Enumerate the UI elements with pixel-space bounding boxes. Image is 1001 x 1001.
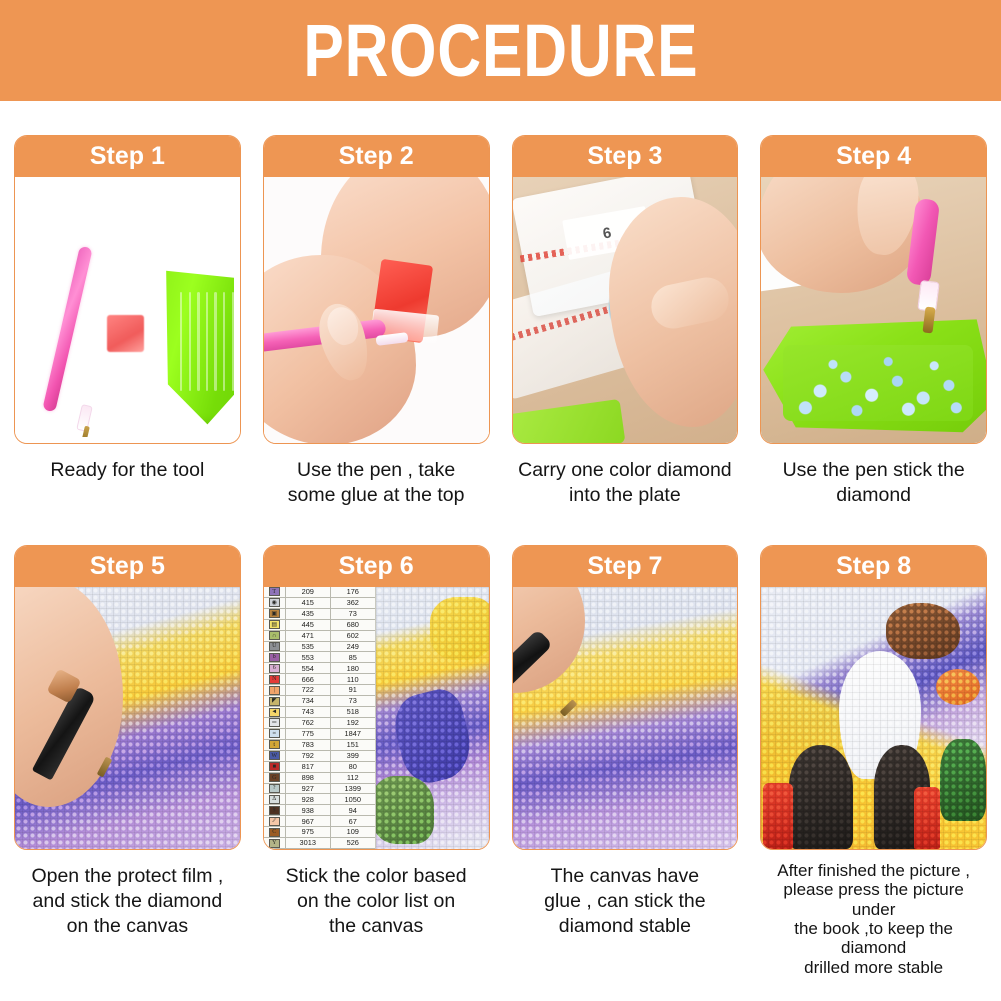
color-chart-count-cell: 192 bbox=[331, 718, 375, 728]
tray-rib bbox=[214, 292, 217, 391]
color-chart-row: N666110 bbox=[264, 674, 375, 685]
caption-line: glue , can stick the bbox=[514, 889, 737, 914]
caption-line: and stick the diamond bbox=[16, 889, 239, 914]
color-swatch: ▣ bbox=[269, 609, 280, 618]
step-caption-5: Open the protect film , and stick the di… bbox=[14, 864, 241, 939]
color-chart-symbol-cell: ⁄⁄ bbox=[264, 816, 286, 826]
step-caption-2: Use the pen , take some glue at the top bbox=[263, 458, 490, 508]
color-chart-row: U535249 bbox=[264, 642, 375, 653]
photo-pen-placing-diamond bbox=[513, 587, 738, 849]
color-chart-row: G898112 bbox=[264, 773, 375, 784]
caption-line: into the plate bbox=[514, 483, 737, 508]
color-chart-row: W792399 bbox=[264, 751, 375, 762]
color-chart-count-cell: 112 bbox=[331, 773, 375, 783]
color-chart-count-cell: 94 bbox=[331, 805, 375, 815]
caption-line: on the color list on bbox=[265, 889, 488, 914]
color-chart-row: Y3013526 bbox=[264, 838, 375, 849]
color-chart-symbol-cell: ◉ bbox=[264, 598, 286, 608]
color-swatch: ▤ bbox=[269, 620, 280, 629]
color-chart-row: §93894 bbox=[264, 805, 375, 816]
step-header-5: Step 5 bbox=[15, 546, 240, 587]
caption-line: Use the pen , take bbox=[265, 458, 488, 483]
page-banner: PROCEDURE bbox=[0, 0, 1001, 101]
color-chart-row: C975109 bbox=[264, 827, 375, 838]
steps-row-bottom: Step 5 Open the protect film , and stick… bbox=[0, 545, 1001, 977]
color-chart-symbol-cell: t bbox=[264, 740, 286, 750]
step-header-4: Step 4 bbox=[761, 136, 986, 177]
color-swatch: N bbox=[269, 675, 280, 684]
color-chart-code-cell: 817 bbox=[286, 762, 331, 772]
color-chart-symbol-cell: ◤ bbox=[264, 696, 286, 706]
color-chart-symbol-cell: ? bbox=[264, 784, 286, 794]
step-caption-3: Carry one color diamond into the plate bbox=[512, 458, 739, 508]
color-chart-count-cell: 73 bbox=[331, 609, 375, 619]
step-header-label-8: Step 8 bbox=[836, 554, 911, 579]
color-swatch: ◄ bbox=[269, 708, 280, 717]
caption-line: the book ,to keep the diamond bbox=[760, 919, 987, 958]
color-chart-code-cell: 938 bbox=[286, 805, 331, 815]
color-chart-symbol-cell: W bbox=[264, 751, 286, 761]
tray-rib bbox=[232, 292, 234, 391]
step-cell-5: Step 5 Open the protect film , and stick… bbox=[14, 545, 241, 977]
caption-line: Open the protect film , bbox=[16, 864, 239, 889]
caption-line: drilled more stable bbox=[760, 958, 987, 977]
color-chart-symbol-cell: 6 bbox=[264, 663, 286, 673]
color-swatch: Y bbox=[269, 839, 280, 848]
page-title: PROCEDURE bbox=[303, 14, 698, 88]
step-caption-7: The canvas have glue , can stick the dia… bbox=[512, 864, 739, 939]
photo-pen-over-tray bbox=[761, 177, 986, 443]
color-chart-code-cell: 743 bbox=[286, 707, 331, 717]
color-swatch: ═ bbox=[269, 718, 280, 727]
color-chart-symbol-cell: § bbox=[264, 805, 286, 815]
step-caption-6: Stick the color based on the color list … bbox=[263, 864, 490, 939]
green-tray-icon bbox=[161, 266, 234, 426]
step-header-label-6: Step 6 bbox=[339, 554, 414, 579]
color-chart-code-cell: 3013 bbox=[286, 838, 331, 848]
step-image-4 bbox=[761, 177, 986, 443]
step-cell-1: Step 1 bbox=[14, 135, 241, 508]
diamond-grid-lines bbox=[761, 587, 986, 849]
step-header-label-4: Step 4 bbox=[836, 144, 911, 169]
caption-line: some glue at the top bbox=[265, 483, 488, 508]
step-cell-2: Step 2 Use the pen , take some glue at t… bbox=[263, 135, 490, 508]
step-card-5[interactable]: Step 5 bbox=[14, 545, 241, 850]
tray-rib bbox=[197, 292, 200, 391]
color-chart-code-cell: 415 bbox=[286, 598, 331, 608]
color-swatch: | bbox=[269, 686, 280, 695]
caption-line: diamond bbox=[762, 483, 985, 508]
color-chart-row: 6554180 bbox=[264, 663, 375, 674]
color-swatch: ∆ bbox=[269, 795, 280, 804]
color-chart-symbol-cell: U bbox=[264, 642, 286, 652]
color-chart-row: |72291 bbox=[264, 685, 375, 696]
color-chart-row: ≈7751847 bbox=[264, 729, 375, 740]
step-image-1 bbox=[15, 177, 240, 443]
step-card-8[interactable]: Step 8 bbox=[760, 545, 987, 850]
step-caption-1: Ready for the tool bbox=[14, 458, 241, 483]
step-header-3: Step 3 bbox=[513, 136, 738, 177]
caption-line: Use the pen stick the bbox=[762, 458, 985, 483]
step-header-2: Step 2 bbox=[264, 136, 489, 177]
blue-diamonds bbox=[787, 349, 971, 419]
bag-number-value: 6 bbox=[601, 225, 612, 241]
color-swatch: ◉ bbox=[269, 598, 280, 607]
tray-rib bbox=[189, 292, 192, 391]
color-chart-count-cell: 1847 bbox=[331, 729, 375, 739]
color-chart-code-cell: 898 bbox=[286, 773, 331, 783]
step-header-8: Step 8 bbox=[761, 546, 986, 587]
color-swatch: ◤ bbox=[269, 697, 280, 706]
color-chart-row: ∆9281050 bbox=[264, 794, 375, 805]
step-card-2[interactable]: Step 2 bbox=[263, 135, 490, 444]
color-symbol-chart: T209176◉415362▣43573▤445680∩471602U53524… bbox=[264, 587, 376, 849]
color-chart-count-cell: 362 bbox=[331, 598, 375, 608]
color-chart-row: ◄743518 bbox=[264, 707, 375, 718]
step-card-4[interactable]: Step 4 bbox=[760, 135, 987, 444]
caption-line: please press the picture under bbox=[760, 880, 987, 919]
diamond-grid-lines bbox=[376, 587, 489, 849]
step-header-label-3: Step 3 bbox=[587, 144, 662, 169]
step-image-8 bbox=[761, 587, 986, 849]
color-chart-count-cell: 180 bbox=[331, 663, 375, 673]
color-chart-symbol-cell: T bbox=[264, 587, 286, 597]
caption-line: on the canvas bbox=[16, 914, 239, 939]
color-swatch: ? bbox=[269, 784, 280, 793]
caption-line: the canvas bbox=[265, 914, 488, 939]
photo-canvas-with-pen bbox=[15, 587, 240, 849]
step-image-2 bbox=[264, 177, 489, 443]
color-chart-row: ▤445680 bbox=[264, 620, 375, 631]
glue-square-icon bbox=[107, 315, 144, 352]
color-chart-count-cell: 67 bbox=[331, 816, 375, 826]
color-swatch: ∩ bbox=[269, 631, 280, 640]
tray-rib bbox=[206, 292, 209, 391]
step-card-7[interactable]: Step 7 bbox=[512, 545, 739, 850]
step-image-7 bbox=[513, 587, 738, 849]
color-chart-count-cell: 109 bbox=[331, 827, 375, 837]
color-chart-code-cell: 471 bbox=[286, 631, 331, 641]
color-chart-count-cell: 518 bbox=[331, 707, 375, 717]
color-chart-count-cell: 1050 bbox=[331, 794, 375, 804]
color-swatch: T bbox=[269, 587, 280, 596]
color-chart-code-cell: 928 bbox=[286, 794, 331, 804]
color-chart-code-cell: 775 bbox=[286, 729, 331, 739]
step-cell-7: Step 7 The canvas have glue , can stick … bbox=[512, 545, 739, 977]
color-swatch: ≈ bbox=[269, 729, 280, 738]
caption-line: Carry one color diamond bbox=[514, 458, 737, 483]
step-card-6[interactable]: Step 6 T209176◉415362▣43573▤445680∩47160… bbox=[263, 545, 490, 850]
step-cell-3: Step 3 6 Carry one colo bbox=[512, 135, 739, 508]
color-chart-count-cell: 176 bbox=[331, 587, 375, 597]
color-chart-symbol-cell: Y bbox=[264, 838, 286, 848]
color-chart-code-cell: 209 bbox=[286, 587, 331, 597]
color-chart-code-cell: 666 bbox=[286, 674, 331, 684]
color-chart-code-cell: 967 bbox=[286, 816, 331, 826]
step-card-1[interactable]: Step 1 bbox=[14, 135, 241, 444]
photo-finished-painting bbox=[761, 587, 986, 849]
color-chart-code-cell: 722 bbox=[286, 685, 331, 695]
green-tray-edge bbox=[513, 399, 625, 443]
color-swatch: ⁄⁄ bbox=[269, 817, 280, 826]
color-chart-row: ⁄⁄96767 bbox=[264, 816, 375, 827]
color-chart-symbol-cell: b bbox=[264, 652, 286, 662]
color-chart-row: b55385 bbox=[264, 652, 375, 663]
caption-line: The canvas have bbox=[514, 864, 737, 889]
step-image-6: T209176◉415362▣43573▤445680∩471602U53524… bbox=[264, 587, 489, 849]
color-chart-code-cell: 792 bbox=[286, 751, 331, 761]
color-swatch: t bbox=[269, 740, 280, 749]
color-chart-count-cell: 73 bbox=[331, 696, 375, 706]
color-chart-code-cell: 435 bbox=[286, 609, 331, 619]
color-chart-symbol-cell: C bbox=[264, 827, 286, 837]
color-chart-code-cell: 535 bbox=[286, 642, 331, 652]
color-chart-count-cell: 110 bbox=[331, 674, 375, 684]
photo-pen-into-glue bbox=[264, 177, 489, 443]
caption-line: diamond stable bbox=[514, 914, 737, 939]
step-header-1: Step 1 bbox=[15, 136, 240, 177]
color-chart-code-cell: 734 bbox=[286, 696, 331, 706]
color-chart-code-cell: 762 bbox=[286, 718, 331, 728]
color-chart-count-cell: 399 bbox=[331, 751, 375, 761]
canvas-mosaic bbox=[376, 587, 489, 849]
steps-row-top: Step 1 bbox=[0, 135, 1001, 508]
color-chart-count-cell: 680 bbox=[331, 620, 375, 630]
step-caption-4: Use the pen stick the diamond bbox=[760, 458, 987, 508]
color-chart-code-cell: 553 bbox=[286, 652, 331, 662]
color-chart-row: ◤73473 bbox=[264, 696, 375, 707]
color-chart-row: T209176 bbox=[264, 587, 375, 598]
color-swatch: U bbox=[269, 642, 280, 651]
step-image-5 bbox=[15, 587, 240, 849]
color-chart-count-cell: 526 bbox=[331, 838, 375, 848]
step-header-label-5: Step 5 bbox=[90, 554, 165, 579]
color-chart-count-cell: 249 bbox=[331, 642, 375, 652]
step-header-6: Step 6 bbox=[264, 546, 489, 587]
color-chart-count-cell: 602 bbox=[331, 631, 375, 641]
color-chart-row: ▣43573 bbox=[264, 609, 375, 620]
color-chart-count-cell: 85 bbox=[331, 652, 375, 662]
step-header-label-2: Step 2 bbox=[339, 144, 414, 169]
color-chart-symbol-cell: N bbox=[264, 674, 286, 684]
color-chart-row: ═762192 bbox=[264, 718, 375, 729]
step-cell-4: Step 4 Use the pen stick the bbox=[760, 135, 987, 508]
color-chart-code-cell: 927 bbox=[286, 784, 331, 794]
color-chart-row: ◉415362 bbox=[264, 598, 375, 609]
color-swatch: b bbox=[269, 653, 280, 662]
color-chart-code-cell: 783 bbox=[286, 740, 331, 750]
color-chart-code-cell: 975 bbox=[286, 827, 331, 837]
color-chart-code-cell: 554 bbox=[286, 663, 331, 673]
photo-tool-set bbox=[21, 183, 234, 437]
color-chart-symbol-cell: G bbox=[264, 773, 286, 783]
color-swatch: C bbox=[269, 828, 280, 837]
color-chart-row: ?9271399 bbox=[264, 784, 375, 795]
color-chart-count-cell: 80 bbox=[331, 762, 375, 772]
color-chart-count-cell: 91 bbox=[331, 685, 375, 695]
color-chart-code-cell: 445 bbox=[286, 620, 331, 630]
color-chart-symbol-cell: ▣ bbox=[264, 609, 286, 619]
color-chart-symbol-cell: ◄ bbox=[264, 707, 286, 717]
step-header-label-7: Step 7 bbox=[587, 554, 662, 579]
caption-line: Stick the color based bbox=[265, 864, 488, 889]
color-chart-symbol-cell: ≈ bbox=[264, 729, 286, 739]
color-chart-symbol-cell: ∆ bbox=[264, 794, 286, 804]
step-cell-8: Step 8 After finished the picture , bbox=[760, 545, 987, 977]
step-header-7: Step 7 bbox=[513, 546, 738, 587]
color-swatch: 6 bbox=[269, 664, 280, 673]
color-swatch: G bbox=[269, 773, 280, 782]
pink-pen-icon bbox=[42, 246, 92, 413]
color-chart-symbol-cell: ▤ bbox=[264, 620, 286, 630]
color-chart-symbol-cell: ■ bbox=[264, 762, 286, 772]
color-chart-row: ∩471602 bbox=[264, 631, 375, 642]
color-swatch: ■ bbox=[269, 762, 280, 771]
color-chart-symbol-cell: ═ bbox=[264, 718, 286, 728]
color-chart-symbol-cell: | bbox=[264, 685, 286, 695]
step-cell-6: Step 6 T209176◉415362▣43573▤445680∩47160… bbox=[263, 545, 490, 977]
color-chart-row: ■81780 bbox=[264, 762, 375, 773]
color-chart-symbol-cell: ∩ bbox=[264, 631, 286, 641]
color-chart-count-cell: 1399 bbox=[331, 784, 375, 794]
color-swatch: W bbox=[269, 751, 280, 760]
color-chart-count-cell: 151 bbox=[331, 740, 375, 750]
step-card-3[interactable]: Step 3 6 bbox=[512, 135, 739, 444]
step-header-label-1: Step 1 bbox=[90, 144, 165, 169]
color-swatch: § bbox=[269, 806, 280, 815]
caption-line: After finished the picture , bbox=[760, 861, 987, 880]
step-caption-8: After finished the picture , please pres… bbox=[760, 861, 987, 977]
step-image-3: 6 bbox=[513, 177, 738, 443]
photo-diamond-bag: 6 bbox=[513, 177, 738, 443]
photo-color-chart-and-canvas: T209176◉415362▣43573▤445680∩471602U53524… bbox=[264, 587, 489, 849]
color-chart-row: t783151 bbox=[264, 740, 375, 751]
